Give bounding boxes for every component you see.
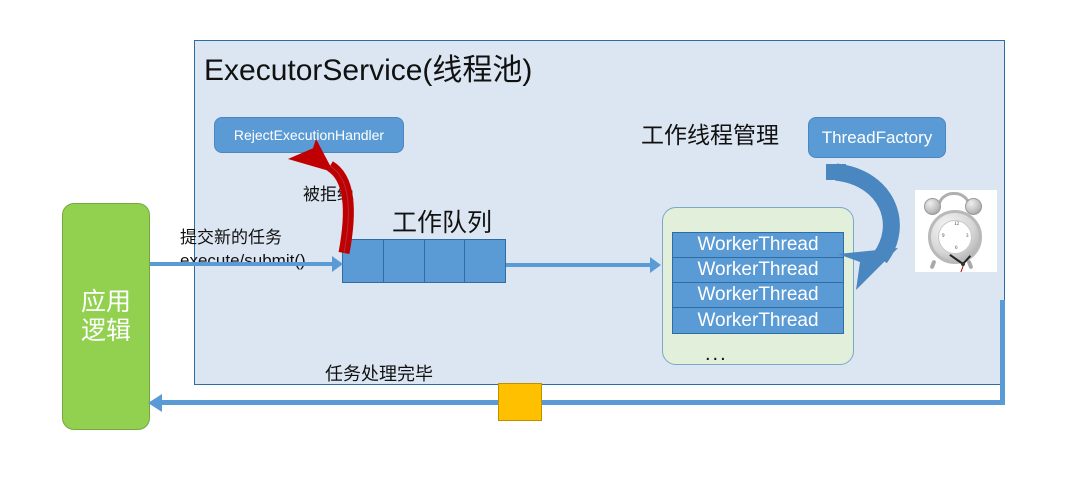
clock-face: 12 3 6 9 bbox=[938, 220, 972, 254]
worker-management-label: 工作线程管理 bbox=[641, 116, 779, 150]
page-title: ExecutorService(线程池) bbox=[204, 45, 532, 89]
worker-thread-row: WorkerThread bbox=[673, 233, 843, 258]
queue-cell bbox=[343, 240, 384, 282]
reject-execution-handler-box[interactable]: RejectExecutionHandler bbox=[214, 117, 404, 153]
application-logic-box: 应用 逻辑 bbox=[62, 203, 150, 430]
app-box-line1: 应用 bbox=[81, 288, 131, 317]
return-connector-riser bbox=[1000, 300, 1005, 404]
worker-thread-row: WorkerThread bbox=[673, 308, 843, 333]
clock-bell-left bbox=[924, 198, 941, 215]
return-arrow-icon bbox=[148, 394, 162, 412]
worker-thread-row: WorkerThread bbox=[673, 258, 843, 283]
submit-arrow-icon bbox=[332, 256, 343, 272]
thread-factory-box[interactable]: ThreadFactory bbox=[808, 117, 946, 158]
rejected-label: 被拒绝 bbox=[303, 180, 354, 205]
submit-task-line1: 提交新的任务 bbox=[180, 227, 306, 250]
alarm-clock-icon: 12 3 6 9 bbox=[915, 190, 997, 272]
queue-cell bbox=[384, 240, 425, 282]
submit-connector-line bbox=[150, 262, 336, 266]
work-queue-title: 工作队列 bbox=[392, 203, 492, 239]
worker-list-ellipsis: ... bbox=[705, 343, 728, 366]
clock-foot-right bbox=[967, 260, 974, 270]
worker-thread-row: WorkerThread bbox=[673, 283, 843, 308]
task-done-label: 任务处理完毕 bbox=[325, 360, 433, 386]
return-connector-line bbox=[162, 400, 1005, 405]
work-queue-box bbox=[342, 239, 506, 283]
clock-foot-left bbox=[930, 260, 937, 270]
queue-cell bbox=[425, 240, 466, 282]
executor-service-panel bbox=[194, 40, 1005, 385]
queue-to-worker-connector-line bbox=[506, 263, 654, 267]
app-box-line2: 逻辑 bbox=[81, 317, 131, 346]
queue-cell bbox=[465, 240, 505, 282]
clock-center-pin bbox=[961, 262, 965, 266]
queue-to-worker-arrow-icon bbox=[650, 257, 661, 273]
diagram-canvas: ExecutorService(线程池) RejectExecutionHand… bbox=[0, 0, 1072, 482]
task-result-marker bbox=[498, 383, 542, 421]
worker-thread-list: WorkerThread WorkerThread WorkerThread W… bbox=[672, 232, 844, 334]
clock-body: 12 3 6 9 bbox=[928, 210, 982, 264]
